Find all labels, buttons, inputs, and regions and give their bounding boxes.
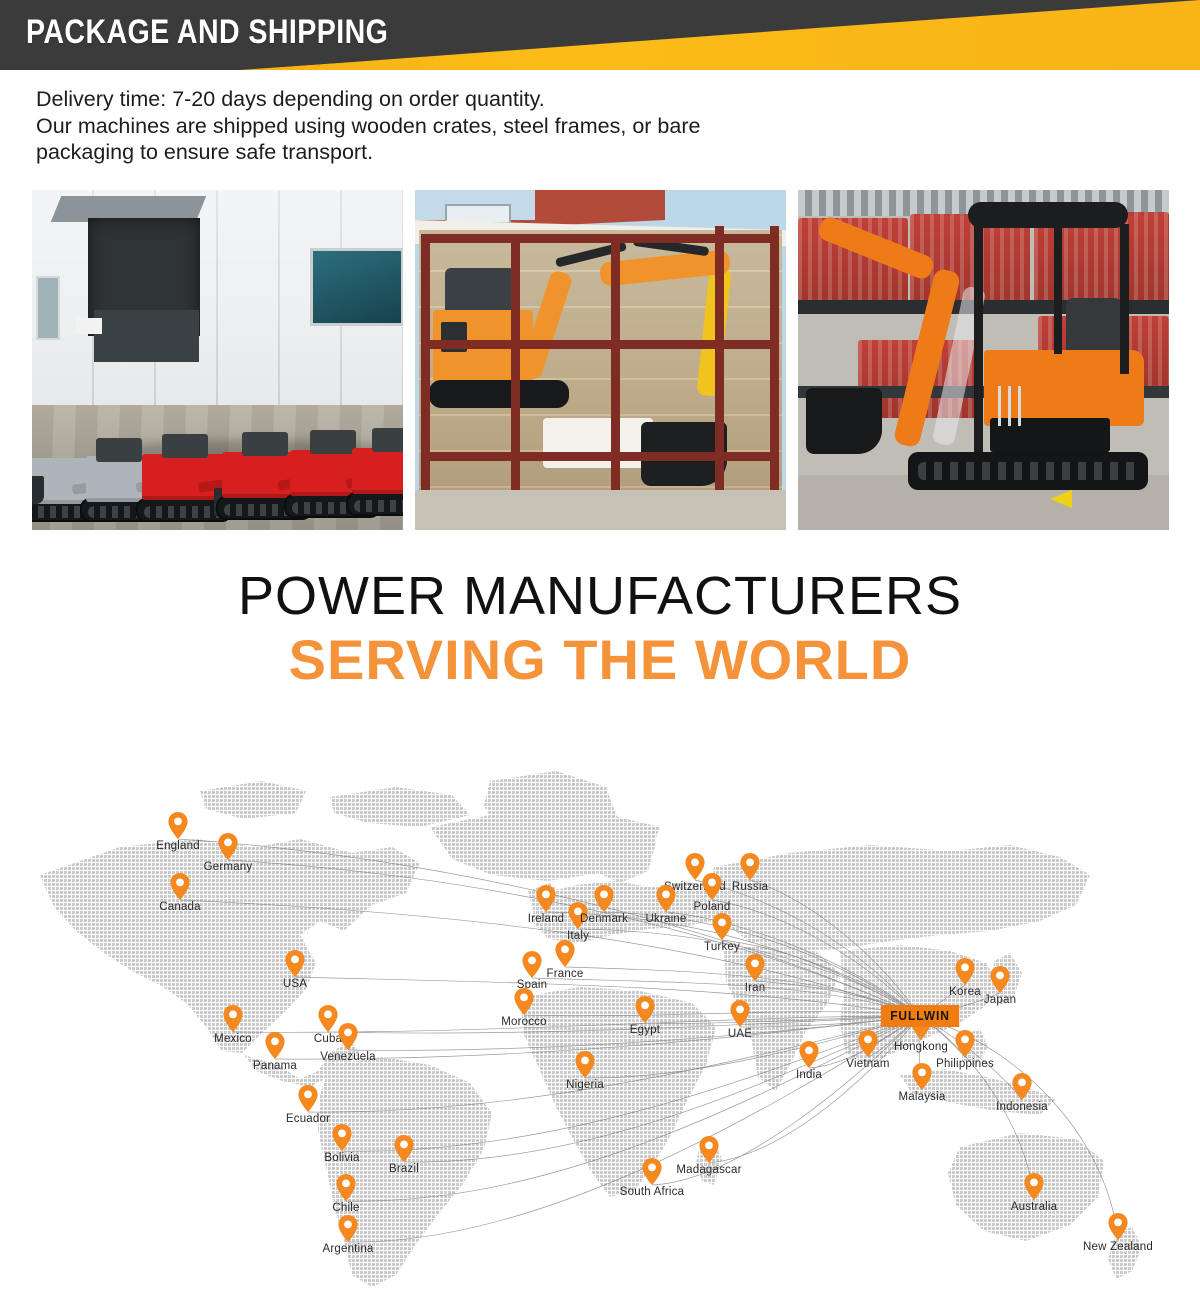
- brand-badge-fullwin[interactable]: FULLWIN: [881, 1005, 959, 1027]
- map-label-iran: Iran: [745, 982, 766, 994]
- map-pin-turkey[interactable]: [712, 913, 732, 940]
- map-pin-india[interactable]: [799, 1041, 819, 1068]
- map-label-denmark: Denmark: [580, 913, 628, 925]
- map-label-venezuela: Venezuela: [320, 1051, 376, 1063]
- world-distribution-map: EnglandGermanyCanadaUSAMexicoCubaPanamaV…: [0, 735, 1200, 1309]
- map-label-australia: Australia: [1011, 1201, 1058, 1213]
- map-label-ireland: Ireland: [528, 913, 565, 925]
- map-pin-venezuela[interactable]: [338, 1023, 358, 1050]
- photo-excavator-in-warehouse: [798, 190, 1169, 530]
- map-pin-cuba[interactable]: [318, 1005, 338, 1032]
- map-pin-iran[interactable]: [745, 954, 765, 981]
- map-label-egypt: Egypt: [630, 1024, 660, 1036]
- photo-gallery: [32, 190, 1171, 530]
- map-pin-australia[interactable]: [1024, 1173, 1044, 1200]
- map-pin-vietnam[interactable]: [858, 1030, 878, 1057]
- map-pin-canada[interactable]: [170, 873, 190, 900]
- map-pin-russia[interactable]: [740, 853, 760, 880]
- map-pin-argentina[interactable]: [338, 1215, 358, 1242]
- map-pin-philippines[interactable]: [955, 1030, 975, 1057]
- map-pin-germany[interactable]: [218, 833, 238, 860]
- map-pin-new-zealand[interactable]: [1108, 1213, 1128, 1240]
- map-pin-ireland[interactable]: [536, 885, 556, 912]
- map-label-ukraine: Ukraine: [645, 913, 686, 925]
- headline-line-1: POWER MANUFACTURERS: [0, 565, 1200, 627]
- map-pin-usa[interactable]: [285, 950, 305, 977]
- map-pin-morocco[interactable]: [514, 988, 534, 1015]
- map-label-france: France: [547, 968, 584, 980]
- section-header-banner: PACKAGE AND SHIPPING: [0, 0, 1200, 70]
- map-label-hongkong: Hongkong: [894, 1041, 948, 1053]
- map-pin-ukraine[interactable]: [656, 885, 676, 912]
- map-pin-panama[interactable]: [265, 1032, 285, 1059]
- map-label-canada: Canada: [159, 901, 200, 913]
- map-label-mexico: Mexico: [214, 1033, 252, 1045]
- description-line-1: Delivery time: 7-20 days depending on or…: [36, 86, 936, 113]
- map-label-nigeria: Nigeria: [566, 1079, 604, 1091]
- map-pin-south-africa[interactable]: [642, 1158, 662, 1185]
- page-title: PACKAGE AND SHIPPING: [26, 13, 388, 52]
- map-pin-egypt[interactable]: [635, 996, 655, 1023]
- map-label-panama: Panama: [253, 1060, 297, 1072]
- map-label-korea: Korea: [949, 986, 981, 998]
- map-pin-england[interactable]: [168, 812, 188, 839]
- map-label-turkey: Turkey: [704, 941, 740, 953]
- map-label-philippines: Philippines: [936, 1058, 994, 1070]
- map-label-poland: Poland: [693, 901, 730, 913]
- map-label-japan: Japan: [984, 994, 1016, 1006]
- map-pin-korea[interactable]: [955, 958, 975, 985]
- map-pin-uae[interactable]: [730, 1000, 750, 1027]
- map-label-uae: UAE: [728, 1028, 752, 1040]
- map-pin-madagascar[interactable]: [699, 1136, 719, 1163]
- map-label-new-zealand: New Zealand: [1083, 1241, 1153, 1253]
- map-label-bolivia: Bolivia: [324, 1152, 359, 1164]
- map-label-madagascar: Madagascar: [676, 1164, 741, 1176]
- map-label-indonesia: Indonesia: [996, 1101, 1048, 1113]
- map-label-ecuador: Ecuador: [286, 1113, 330, 1125]
- map-pin-indonesia[interactable]: [1012, 1073, 1032, 1100]
- map-label-usa: USA: [283, 978, 307, 990]
- photo-red-mini-loaders: [32, 190, 403, 530]
- shipping-description: Delivery time: 7-20 days depending on or…: [36, 86, 936, 166]
- shipping-page: PACKAGE AND SHIPPING Delivery time: 7-20…: [0, 0, 1200, 1309]
- map-label-russia: Russia: [732, 881, 768, 893]
- map-pin-denmark[interactable]: [594, 885, 614, 912]
- map-label-vietnam: Vietnam: [846, 1058, 889, 1070]
- photo-excavator-in-steel-frame: [415, 190, 786, 530]
- map-pin-spain[interactable]: [522, 951, 542, 978]
- map-pin-malaysia[interactable]: [912, 1063, 932, 1090]
- map-label-morocco: Morocco: [501, 1016, 547, 1028]
- map-pin-ecuador[interactable]: [298, 1085, 318, 1112]
- description-line-2: Our machines are shipped using wooden cr…: [36, 113, 936, 140]
- map-pin-chile[interactable]: [336, 1174, 356, 1201]
- map-label-brazil: Brazil: [389, 1163, 419, 1175]
- map-label-malaysia: Malaysia: [899, 1091, 946, 1103]
- map-pin-brazil[interactable]: [394, 1135, 414, 1162]
- map-label-germany: Germany: [204, 861, 253, 873]
- map-pin-bolivia[interactable]: [332, 1124, 352, 1151]
- map-pin-poland[interactable]: [702, 873, 722, 900]
- description-line-3: packaging to ensure safe transport.: [36, 139, 936, 166]
- map-label-chile: Chile: [332, 1202, 359, 1214]
- headline-line-2: SERVING THE WORLD: [0, 629, 1200, 691]
- map-label-india: India: [796, 1069, 822, 1081]
- map-label-england: England: [156, 840, 200, 852]
- map-label-south-africa: South Africa: [620, 1186, 684, 1198]
- map-pin-mexico[interactable]: [223, 1005, 243, 1032]
- map-label-argentina: Argentina: [322, 1243, 373, 1255]
- map-pin-nigeria[interactable]: [575, 1051, 595, 1078]
- map-pin-japan[interactable]: [990, 966, 1010, 993]
- map-pin-france[interactable]: [555, 940, 575, 967]
- section-headline: POWER MANUFACTURERS SERVING THE WORLD: [0, 565, 1200, 691]
